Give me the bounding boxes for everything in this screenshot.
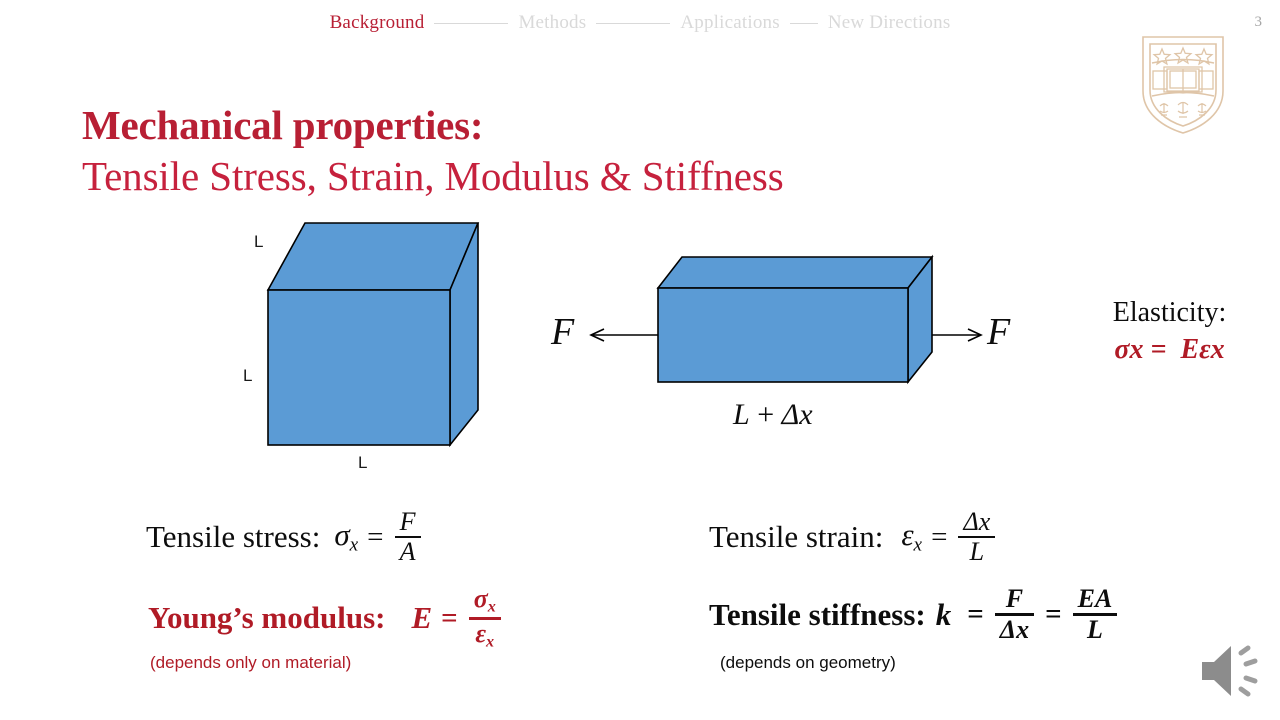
section-navigation: Background Methods Applications New Dire… — [0, 8, 1280, 38]
strain-symbol: εx — [901, 517, 922, 556]
fraction-denominator: Δx — [995, 616, 1034, 644]
undeformed-cube-figure — [230, 205, 530, 485]
tensile-strain-label: Tensile strain: — [709, 519, 883, 555]
elasticity-equation: σx = Eεx — [1062, 331, 1277, 369]
length-operator: + — [750, 398, 782, 431]
equals-operator-2: = — [1045, 598, 1062, 631]
stress-fraction: F A — [395, 508, 421, 566]
fraction-numerator: F — [1001, 585, 1028, 613]
fraction-numerator: EA — [1073, 585, 1118, 613]
length-delta: Δx — [782, 398, 813, 431]
modulus-symbol: E — [1180, 334, 1199, 365]
length-base: L — [733, 398, 750, 431]
fraction-denominator: A — [395, 538, 421, 566]
youngs-modulus-label: Young’s modulus: — [148, 600, 385, 636]
tensile-stiffness-label: Tensile stiffness: — [709, 597, 926, 633]
slide-title: Mechanical properties: Tensile Stress, S… — [82, 100, 1082, 202]
strain-fraction: Δx L — [958, 508, 995, 566]
sigma-subscript: x — [1129, 334, 1143, 365]
nav-item-applications[interactable]: Applications — [680, 12, 780, 34]
tensile-stiffness-equation: Tensile stiffness: k = F Δx = EA L — [709, 585, 1119, 644]
tensile-strain-equation: Tensile strain: εx = Δx L — [709, 508, 997, 566]
stiffness-symbol: k — [936, 597, 952, 633]
epsilon-symbol: ε — [1199, 334, 1210, 365]
epsilon-subscript: x — [1211, 334, 1225, 365]
cube-front-face — [268, 290, 450, 445]
fraction-denominator: L — [965, 538, 989, 566]
nav-separator — [790, 23, 818, 24]
cube-height-label-L: L — [243, 366, 252, 386]
elasticity-heading: Elasticity: — [1062, 295, 1277, 331]
block-front-face — [658, 288, 908, 382]
stiffness-fraction-1: F Δx — [995, 585, 1034, 644]
force-label-right-F: F — [987, 310, 1010, 354]
cube-width-label-L: L — [358, 453, 367, 473]
stiffness-fraction-2: EA L — [1073, 585, 1118, 644]
fraction-denominator: L — [1082, 616, 1108, 644]
sigma-symbol: σ — [1114, 334, 1129, 365]
stress-symbol: σx — [334, 517, 358, 556]
tensile-stress-equation: Tensile stress: σx = F A — [146, 508, 423, 566]
slide: Background Methods Applications New Dire… — [0, 0, 1280, 720]
modulus-fraction: σx εx — [469, 585, 501, 651]
modulus-symbol: E — [411, 600, 432, 636]
nav-item-methods[interactable]: Methods — [518, 12, 586, 34]
block-top-face — [658, 257, 932, 288]
title-line-1: Mechanical properties: — [82, 100, 1082, 150]
fraction-denominator: εx — [470, 620, 499, 652]
nav-item-new-directions[interactable]: New Directions — [828, 12, 951, 34]
strain-subscript: x — [914, 535, 923, 556]
force-label-left-F: F — [551, 310, 574, 354]
nav-item-background[interactable]: Background — [330, 12, 425, 34]
page-number: 3 — [1255, 14, 1263, 31]
tensile-stress-label: Tensile stress: — [146, 519, 320, 555]
nav-separator — [434, 23, 508, 24]
tensile-stiffness-note: (depends on geometry) — [720, 653, 896, 673]
equals-operator-1: = — [967, 598, 984, 631]
block-length-label: L + Δx — [733, 398, 813, 432]
equals-operator: = — [1150, 334, 1166, 365]
fraction-numerator: σx — [469, 585, 501, 617]
equals-operator: = — [441, 602, 458, 635]
cube-top-face — [268, 223, 478, 290]
equals-operator: = — [367, 521, 383, 554]
fraction-numerator: F — [395, 508, 421, 536]
elasticity-block: Elasticity: σx = Eεx — [1062, 295, 1277, 369]
title-line-2: Tensile Stress, Strain, Modulus & Stiffn… — [82, 150, 1082, 202]
nav-separator — [596, 23, 670, 24]
speaker-icon[interactable] — [1196, 640, 1266, 702]
equals-operator: = — [931, 521, 947, 554]
cube-depth-label-L: L — [254, 232, 263, 252]
stress-subscript: x — [350, 535, 359, 556]
fraction-numerator: Δx — [958, 508, 995, 536]
university-crest-logo — [1139, 33, 1227, 137]
youngs-modulus-note: (depends only on material) — [150, 653, 351, 673]
force-arrow-left — [591, 329, 658, 341]
youngs-modulus-equation: Young’s modulus: E = σx εx — [148, 585, 503, 651]
